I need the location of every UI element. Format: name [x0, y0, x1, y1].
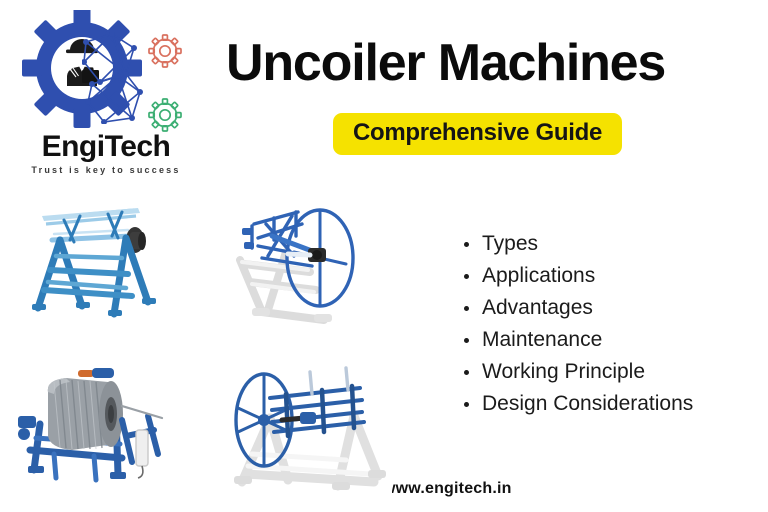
uncoiler-spool-wheel-white-illustration — [226, 358, 392, 498]
gear-icon-red — [148, 34, 182, 68]
product-photo-uncoiler-a-frame-blue — [22, 196, 172, 330]
list-item: Maintenance — [460, 324, 760, 356]
poster-canvas: EngiTech Trust is key to success Uncoile… — [0, 0, 768, 512]
uncoiler-a-frame-blue-illustration — [22, 196, 172, 330]
website-url: www.engitech.in — [383, 480, 512, 498]
list-item: Applications — [460, 260, 760, 292]
brand-logo: EngiTech Trust is key to success — [8, 6, 208, 186]
page-title: Uncoiler Machines — [226, 36, 746, 91]
brand-tagline: Trust is key to success — [16, 166, 196, 175]
uncoiler-reel-ring-blue-illustration — [228, 194, 368, 334]
list-item: Working Principle — [460, 356, 760, 388]
product-photo-uncoiler-with-steel-coil — [10, 358, 192, 486]
list-item: Types — [460, 228, 760, 260]
product-photo-uncoiler-spool-wheel-white — [226, 358, 392, 498]
subtitle-badge: Comprehensive Guide — [333, 113, 622, 155]
logo-mark — [20, 10, 150, 132]
list-item: Design Considerations — [460, 388, 760, 420]
gear-icon-green — [148, 98, 182, 132]
list-item: Advantages — [460, 292, 760, 324]
topics-list: Types Applications Advantages Maintenanc… — [460, 228, 760, 420]
product-photo-uncoiler-reel-ring-blue — [228, 194, 368, 334]
uncoiler-with-steel-coil-illustration — [10, 358, 192, 486]
brand-name: EngiTech — [26, 132, 186, 162]
